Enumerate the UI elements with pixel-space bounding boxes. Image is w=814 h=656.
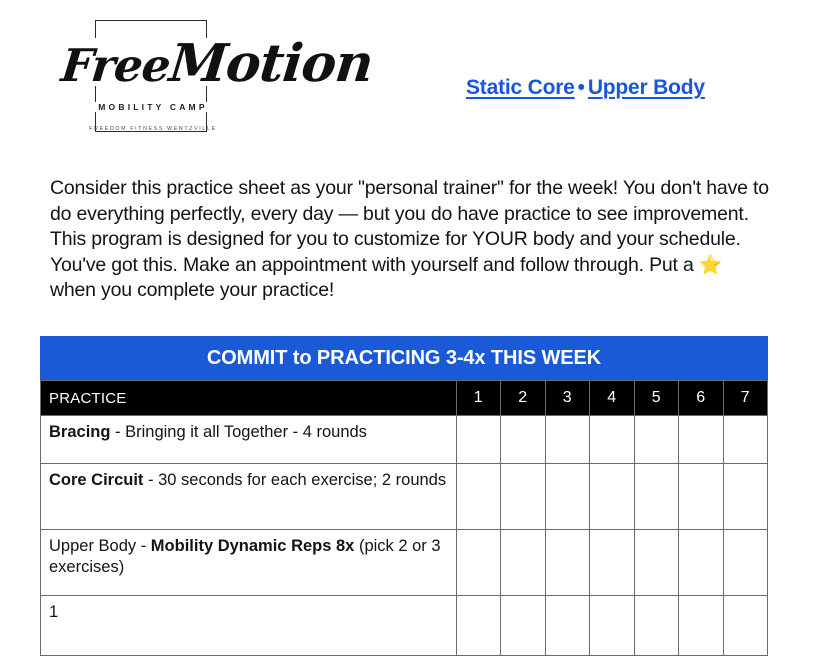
column-header-day-1: 1 (456, 381, 501, 416)
checkbox-cell-upper-body-day-2[interactable] (501, 530, 546, 596)
checkbox-cell-item-1-day-5[interactable] (634, 596, 679, 656)
checkbox-cell-item-1-day-1[interactable] (456, 596, 501, 656)
page-header: FreeMotion MOBILITY CAMP FREEDOM FITNESS… (0, 0, 814, 150)
practice-label-bracing-bold: Bracing (49, 423, 110, 441)
checkbox-cell-core-circuit-day-3[interactable] (545, 464, 590, 530)
checkbox-cell-core-circuit-day-2[interactable] (501, 464, 546, 530)
logo-script-text: FreeMotion (59, 12, 247, 90)
checkbox-cell-item-1-day-3[interactable] (545, 596, 590, 656)
checkbox-cell-upper-body-day-5[interactable] (634, 530, 679, 596)
logo-script-part1: Free (59, 39, 173, 92)
checkbox-cell-core-circuit-day-7[interactable] (723, 464, 768, 530)
practice-label-core-circuit-bold: Core Circuit (49, 471, 143, 489)
column-header-day-2: 2 (501, 381, 546, 416)
checkbox-cell-item-1-day-6[interactable] (679, 596, 724, 656)
column-header-day-5: 5 (634, 381, 679, 416)
page-title-separator: • (575, 76, 588, 99)
checkbox-cell-core-circuit-day-4[interactable] (590, 464, 635, 530)
intro-text-tail: when you complete your practice! (50, 279, 334, 301)
column-header-day-6: 6 (679, 381, 724, 416)
checkbox-cell-upper-body-day-1[interactable] (456, 530, 501, 596)
table-row: 1 (41, 596, 768, 656)
checkbox-cell-bracing-day-4[interactable] (590, 416, 635, 464)
practice-label-upper-body: Upper Body - Mobility Dynamic Reps 8x (p… (41, 530, 457, 596)
brand-logo: FreeMotion MOBILITY CAMP FREEDOM FITNESS… (63, 12, 243, 132)
checkbox-cell-bracing-day-1[interactable] (456, 416, 501, 464)
table-header-row: PRACTICE 1 2 3 4 5 6 7 (41, 381, 768, 416)
practice-label-core-circuit: Core Circuit - 30 seconds for each exerc… (41, 464, 457, 530)
logo-script-part2: Motion (167, 33, 376, 94)
checkbox-cell-bracing-day-7[interactable] (723, 416, 768, 464)
practice-sheet: COMMIT to PRACTICING 3-4x THIS WEEK PRAC… (40, 336, 768, 656)
checkbox-cell-upper-body-day-6[interactable] (679, 530, 724, 596)
page-title: Static Core•Upper Body (466, 76, 705, 100)
checkbox-cell-upper-body-day-3[interactable] (545, 530, 590, 596)
checkbox-cell-core-circuit-day-1[interactable] (456, 464, 501, 530)
intro-text: Consider this practice sheet as your "pe… (50, 177, 769, 276)
checkbox-cell-core-circuit-day-5[interactable] (634, 464, 679, 530)
column-header-day-4: 4 (590, 381, 635, 416)
checkbox-cell-item-1-day-7[interactable] (723, 596, 768, 656)
intro-paragraph: Consider this practice sheet as your "pe… (50, 176, 772, 304)
logo-tagline: FREEDOM FITNESS WENTZVILLE (63, 126, 243, 132)
practice-label-item-1: 1 (41, 596, 457, 656)
practice-label-bracing-rest: - Bringing it all Together - 4 rounds (110, 423, 367, 441)
column-header-day-3: 3 (545, 381, 590, 416)
page-title-segment-static-core: Static Core (466, 76, 575, 99)
checkbox-cell-bracing-day-2[interactable] (501, 416, 546, 464)
column-header-practice: PRACTICE (41, 381, 457, 416)
checkbox-cell-bracing-day-5[interactable] (634, 416, 679, 464)
checkbox-cell-core-circuit-day-6[interactable] (679, 464, 724, 530)
table-row: Upper Body - Mobility Dynamic Reps 8x (p… (41, 530, 768, 596)
table-row: Core Circuit - 30 seconds for each exerc… (41, 464, 768, 530)
column-header-day-7: 7 (723, 381, 768, 416)
commit-banner: COMMIT to PRACTICING 3-4x THIS WEEK (40, 336, 768, 380)
checkbox-cell-item-1-day-2[interactable] (501, 596, 546, 656)
practice-label-upper-body-bold: Mobility Dynamic Reps 8x (151, 537, 355, 555)
table-row: Bracing - Bringing it all Together - 4 r… (41, 416, 768, 464)
checkbox-cell-bracing-day-6[interactable] (679, 416, 724, 464)
checkbox-cell-upper-body-day-4[interactable] (590, 530, 635, 596)
star-icon: ⭐ (699, 255, 722, 276)
practice-label-bracing: Bracing - Bringing it all Together - 4 r… (41, 416, 457, 464)
practice-table: PRACTICE 1 2 3 4 5 6 7 Bracing - Bringin… (40, 380, 768, 656)
logo-subtitle: MOBILITY CAMP (94, 102, 211, 112)
checkbox-cell-item-1-day-4[interactable] (590, 596, 635, 656)
page-title-segment-upper-body: Upper Body (588, 76, 705, 99)
checkbox-cell-upper-body-day-7[interactable] (723, 530, 768, 596)
checkbox-cell-bracing-day-3[interactable] (545, 416, 590, 464)
practice-label-core-circuit-rest: - 30 seconds for each exercise; 2 rounds (143, 471, 446, 489)
practice-label-upper-body-lead: Upper Body - (49, 537, 151, 555)
